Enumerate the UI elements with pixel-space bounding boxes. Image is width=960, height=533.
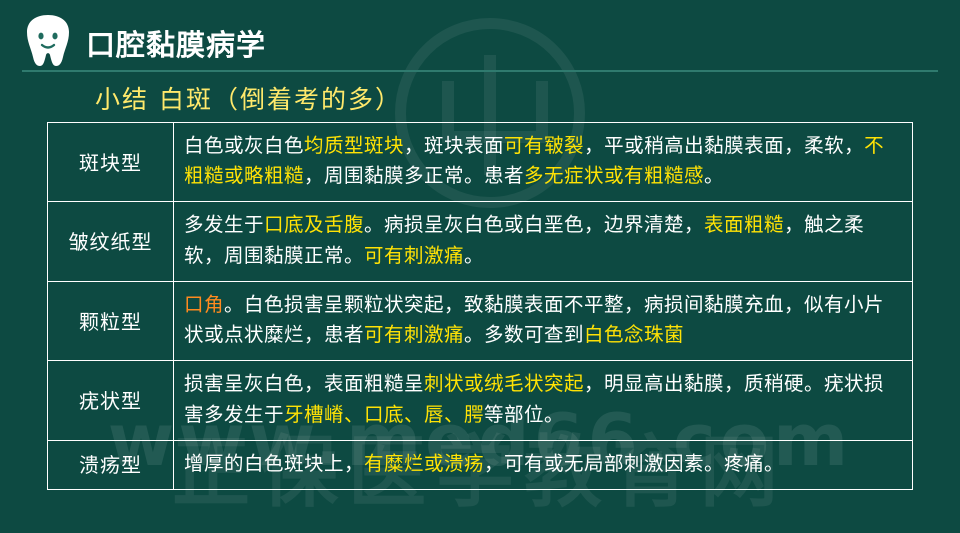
text-segment: ，周围黏膜多正常。患者 — [304, 164, 524, 187]
row-label: 疣状型 — [48, 361, 174, 440]
row-description: 损害呈灰白色，表面粗糙呈刺状或绒毛状突起，明显高出黏膜，质稍硬。疣状损害多发生于… — [174, 361, 913, 440]
text-segment: 刺状或绒毛状突起 — [424, 372, 584, 395]
text-segment: 有糜烂或溃疡 — [364, 452, 484, 475]
text-segment: 口角 — [184, 293, 224, 316]
table-row: 斑块型白色或灰白色均质型斑块，斑块表面可有皲裂，平或稍高出黏膜表面，柔软，不粗糙… — [48, 123, 913, 202]
summary-table: 斑块型白色或灰白色均质型斑块，斑块表面可有皲裂，平或稍高出黏膜表面，柔软，不粗糙… — [47, 122, 913, 490]
slide-subtitle: 小结 白斑（倒着考的多） — [95, 80, 402, 116]
text-segment: 。 — [464, 244, 484, 267]
page-title: 口腔黏膜病学 — [86, 22, 266, 64]
slide: 正保医学教育网 www.med66.com 口腔黏膜病学 小结 白斑（倒着考的多… — [0, 0, 960, 533]
text-segment: 牙槽嵴、口底、唇、腭 — [284, 403, 484, 426]
text-segment: 口底及舌腹 — [264, 213, 364, 236]
text-segment: 可有刺激痛 — [364, 323, 464, 346]
text-segment: 表面粗糙 — [704, 213, 784, 236]
row-label: 颗粒型 — [48, 281, 174, 360]
text-segment: 。多数可查到 — [464, 323, 584, 346]
text-segment: ，斑块表面 — [404, 134, 504, 157]
tooth-icon — [22, 12, 74, 68]
header-divider — [22, 70, 938, 72]
text-segment: 。病损呈灰白色或白垩色，边界清楚， — [364, 213, 704, 236]
row-description: 口角。白色损害呈颗粒状突起，致黏膜表面不平整，病损间黏膜充血，似有小片状或点状糜… — [174, 281, 913, 360]
row-label: 溃疡型 — [48, 440, 174, 489]
table-row: 颗粒型口角。白色损害呈颗粒状突起，致黏膜表面不平整，病损间黏膜充血，似有小片状或… — [48, 281, 913, 360]
text-segment: 可有皲裂 — [504, 134, 584, 157]
row-label: 皱纹纸型 — [48, 202, 174, 281]
text-segment: 可有刺激痛 — [364, 244, 464, 267]
text-segment: 等部位。 — [484, 403, 564, 426]
text-segment: 增厚的白色斑块上， — [184, 452, 364, 475]
text-segment: 均质型斑块 — [304, 134, 404, 157]
row-description: 增厚的白色斑块上，有糜烂或溃疡，可有或无局部刺激因素。疼痛。 — [174, 440, 913, 489]
table-row: 溃疡型增厚的白色斑块上，有糜烂或溃疡，可有或无局部刺激因素。疼痛。 — [48, 440, 913, 489]
table-row: 疣状型损害呈灰白色，表面粗糙呈刺状或绒毛状突起，明显高出黏膜，质稍硬。疣状损害多… — [48, 361, 913, 440]
row-description: 白色或灰白色均质型斑块，斑块表面可有皲裂，平或稍高出黏膜表面，柔软，不粗糙或略粗… — [174, 123, 913, 202]
row-description: 多发生于口底及舌腹。病损呈灰白色或白垩色，边界清楚，表面粗糙，触之柔软，周围黏膜… — [174, 202, 913, 281]
text-segment: 。 — [704, 164, 724, 187]
text-segment: ，平或稍高出黏膜表面，柔软， — [584, 134, 864, 157]
row-label: 斑块型 — [48, 123, 174, 202]
text-segment: 白色念珠菌 — [584, 323, 684, 346]
slide-header: 口腔黏膜病学 — [0, 0, 960, 72]
table-row: 皱纹纸型多发生于口底及舌腹。病损呈灰白色或白垩色，边界清楚，表面粗糙，触之柔软，… — [48, 202, 913, 281]
text-segment: 白色或灰白色 — [184, 134, 304, 157]
text-segment: 多发生于 — [184, 213, 264, 236]
text-segment: 多无症状或有粗糙感 — [524, 164, 704, 187]
text-segment: 损害呈灰白色，表面粗糙呈 — [184, 372, 424, 395]
text-segment: ，可有或无局部刺激因素。疼痛。 — [484, 452, 784, 475]
